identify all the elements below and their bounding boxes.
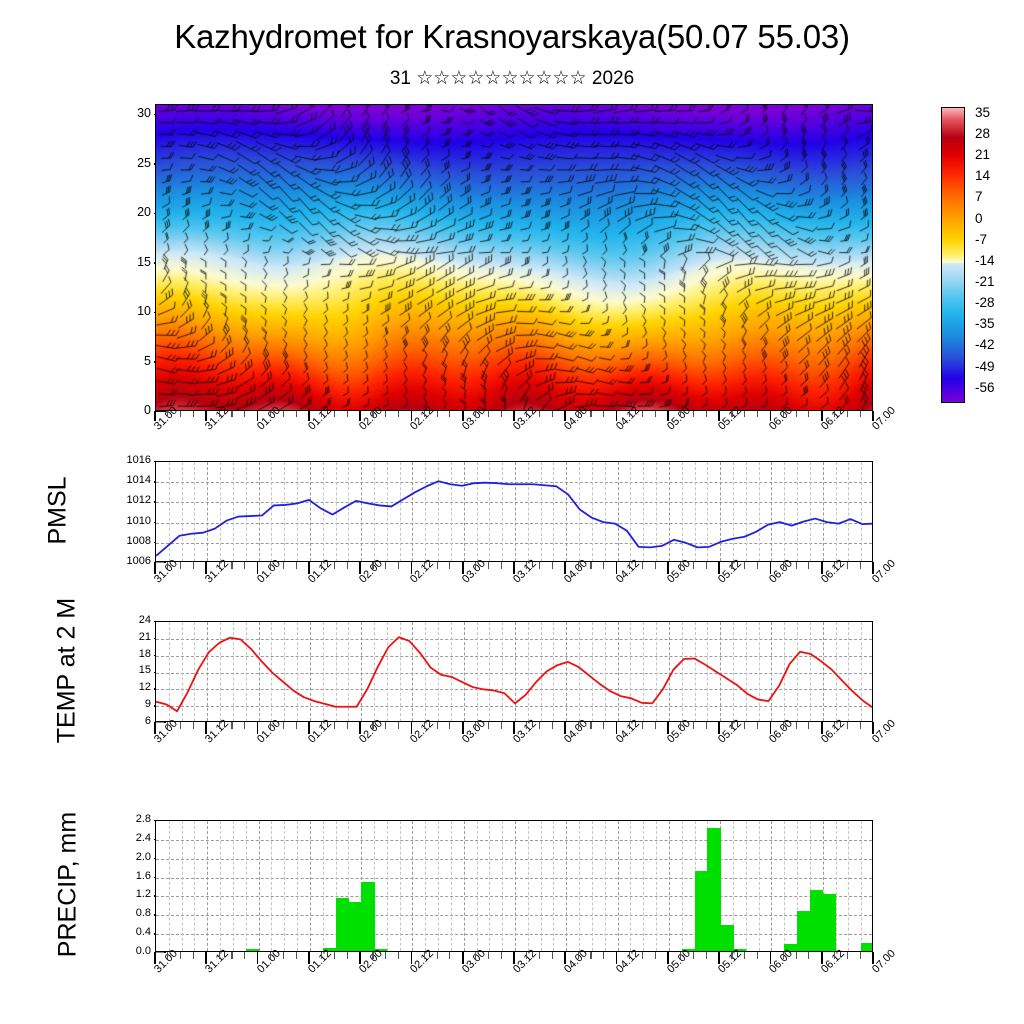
x-tick-minor xyxy=(706,722,707,729)
x-tick-minor xyxy=(680,952,681,959)
grid-line-vertical xyxy=(400,821,401,951)
grid-line-vertical xyxy=(182,821,183,951)
colorbar-tick-label: 35 xyxy=(975,106,990,120)
grid-line-vertical xyxy=(605,821,606,951)
x-tick-minor xyxy=(475,562,476,569)
x-tick-minor xyxy=(501,722,502,729)
x-tick-minor xyxy=(398,562,399,569)
x-tick-minor xyxy=(603,562,604,569)
colorbar-tick-label: -35 xyxy=(975,317,995,331)
x-tick-minor xyxy=(219,562,220,569)
x-tick-minor xyxy=(270,411,271,417)
x-tick-minor xyxy=(231,411,232,417)
grid-line-horizontal xyxy=(156,934,872,935)
x-tick-minor xyxy=(424,562,425,569)
x-tick-minor xyxy=(193,411,194,417)
x-tick-minor xyxy=(680,411,681,417)
x-tick-minor xyxy=(693,562,694,569)
x-tick-minor xyxy=(629,952,630,959)
y-tick-label: 2.4 xyxy=(107,833,151,844)
x-tick-minor xyxy=(334,722,335,729)
x-tick-label: 07.00 xyxy=(870,718,898,746)
x-tick-minor xyxy=(706,562,707,569)
grid-line-vertical xyxy=(412,821,413,951)
x-tick-minor xyxy=(578,411,579,417)
temp-series-line xyxy=(156,622,873,722)
y-tick-minor xyxy=(156,952,164,953)
x-tick-minor xyxy=(539,722,540,729)
y-tick-label: 15 xyxy=(107,256,151,269)
y-tick-label: 20 xyxy=(107,206,151,219)
x-tick-minor xyxy=(501,952,502,959)
grid-line-vertical xyxy=(259,821,260,951)
x-tick-minor xyxy=(372,952,373,959)
x-tick-minor xyxy=(244,722,245,729)
x-tick-minor xyxy=(437,562,438,569)
x-tick-minor xyxy=(283,722,284,729)
grid-line-vertical xyxy=(759,821,760,951)
subtitle-day: 31 xyxy=(390,68,411,89)
colorbar-tick-label: -49 xyxy=(975,360,995,374)
x-tick-minor xyxy=(180,722,181,729)
x-tick-minor xyxy=(744,952,745,959)
page-title: Kazhydromet for Krasnoyarskaya(50.07 55.… xyxy=(0,18,1024,56)
x-tick-minor xyxy=(437,722,438,729)
grid-line-vertical xyxy=(207,821,208,951)
grid-line-horizontal xyxy=(156,896,872,897)
x-tick-minor xyxy=(808,722,809,729)
x-tick-minor xyxy=(834,411,835,417)
x-tick-minor xyxy=(347,722,348,729)
subtitle-date: 31 ☆☆☆☆☆☆☆☆☆☆ 2026 xyxy=(0,67,1024,90)
grid-line-vertical xyxy=(656,821,657,951)
grid-line-vertical xyxy=(489,821,490,951)
y-tick-label: 0 xyxy=(107,404,151,417)
x-tick-minor xyxy=(590,562,591,569)
x-tick-minor xyxy=(501,562,502,569)
x-tick-minor xyxy=(860,562,861,569)
x-tick-minor xyxy=(488,562,489,569)
x-tick-minor xyxy=(526,722,527,729)
y-tick-minor xyxy=(156,562,164,563)
x-tick-minor xyxy=(231,952,232,959)
x-tick-minor xyxy=(321,722,322,729)
x-tick-minor xyxy=(847,562,848,569)
x-tick-label: 07.00 xyxy=(870,558,898,586)
x-tick-minor xyxy=(655,411,656,417)
y-tick-label: 0.0 xyxy=(107,946,151,957)
x-tick-minor xyxy=(552,411,553,417)
grid-line-vertical xyxy=(669,821,670,951)
x-tick-minor xyxy=(449,562,450,569)
grid-line-vertical xyxy=(682,821,683,951)
x-tick-minor xyxy=(372,722,373,729)
x-tick-minor xyxy=(424,952,425,959)
y-tick-label: 18 xyxy=(107,649,151,660)
x-tick-minor xyxy=(693,411,694,417)
x-tick-minor xyxy=(808,562,809,569)
grid-line-vertical xyxy=(771,821,772,951)
grid-line-horizontal xyxy=(156,859,872,860)
x-tick-minor xyxy=(398,952,399,959)
grid-line-vertical xyxy=(323,821,324,951)
grid-line-vertical xyxy=(310,821,311,951)
x-tick-minor xyxy=(693,952,694,959)
x-tick-minor xyxy=(744,722,745,729)
x-tick-minor xyxy=(347,952,348,959)
y-tick-label: 1.2 xyxy=(107,889,151,900)
x-tick-minor xyxy=(347,411,348,417)
pmsl-plot[interactable] xyxy=(155,461,873,562)
x-tick-minor xyxy=(385,722,386,729)
x-tick-minor xyxy=(655,562,656,569)
x-tick-minor xyxy=(757,562,758,569)
x-tick-minor xyxy=(526,411,527,417)
x-tick-minor xyxy=(385,411,386,417)
y-tick-label: 24 xyxy=(107,615,151,626)
x-tick-minor xyxy=(693,722,694,729)
x-tick-minor xyxy=(385,562,386,569)
x-tick-minor xyxy=(372,411,373,417)
x-tick-minor xyxy=(860,952,861,959)
x-tick-minor xyxy=(731,952,732,959)
x-tick-minor xyxy=(757,722,758,729)
x-tick-minor xyxy=(680,562,681,569)
precip-bar xyxy=(707,828,720,951)
pmsl-axis-title: PMSL xyxy=(44,450,73,570)
series-polyline xyxy=(156,481,873,556)
x-tick-minor xyxy=(796,722,797,729)
grid-line-vertical xyxy=(284,821,285,951)
precip-bar xyxy=(810,890,823,951)
x-tick-minor xyxy=(270,562,271,569)
colorbar-tick-label: -56 xyxy=(975,381,995,395)
x-tick-minor xyxy=(642,952,643,959)
x-tick-label: 07.00 xyxy=(870,405,898,433)
precip-axis-title: PRECIP, mm xyxy=(54,795,83,975)
y-tick-minor xyxy=(156,722,164,723)
x-tick-minor xyxy=(167,562,168,569)
grid-line-vertical xyxy=(271,821,272,951)
grid-line-vertical xyxy=(387,821,388,951)
x-tick-minor xyxy=(744,562,745,569)
x-tick-minor xyxy=(783,562,784,569)
colorbar-tick-label: 0 xyxy=(975,212,983,226)
x-tick-minor xyxy=(180,952,181,959)
grid-line-vertical xyxy=(451,821,452,951)
x-tick-minor xyxy=(167,722,168,729)
x-tick-minor xyxy=(488,952,489,959)
grid-line-vertical xyxy=(169,821,170,951)
x-tick-minor xyxy=(731,722,732,729)
subtitle-month-glyphs: ☆☆☆☆☆☆☆☆☆☆ xyxy=(416,68,586,89)
x-tick-minor xyxy=(834,562,835,569)
x-tick-minor xyxy=(424,722,425,729)
x-tick-minor xyxy=(296,562,297,569)
x-tick-minor xyxy=(706,952,707,959)
grid-line-vertical xyxy=(438,821,439,951)
x-tick-minor xyxy=(642,562,643,569)
grid-line-vertical xyxy=(528,821,529,951)
x-tick-minor xyxy=(731,411,732,417)
x-tick-minor xyxy=(488,411,489,417)
x-tick-minor xyxy=(296,722,297,729)
colorbar-tick-label: 28 xyxy=(975,127,990,141)
cross-section-plot[interactable] xyxy=(155,104,873,411)
x-tick-minor xyxy=(283,411,284,417)
y-tick-label: 9 xyxy=(107,699,151,710)
precip-bar xyxy=(861,943,873,951)
precip-bar xyxy=(823,894,836,951)
grid-line-vertical xyxy=(541,821,542,951)
x-tick-minor xyxy=(526,562,527,569)
x-tick-minor xyxy=(629,722,630,729)
x-tick-minor xyxy=(475,722,476,729)
precip-bar xyxy=(361,882,374,951)
x-tick-minor xyxy=(475,952,476,959)
y-tick-label: 2.8 xyxy=(107,814,151,825)
colorbar-tick-label: 7 xyxy=(975,190,983,204)
x-tick-minor xyxy=(219,722,220,729)
y-tick-label: 6 xyxy=(107,716,151,727)
x-tick-minor xyxy=(706,411,707,417)
x-tick-minor xyxy=(398,722,399,729)
grid-line-vertical xyxy=(566,821,567,951)
grid-line-vertical xyxy=(464,821,465,951)
series-polyline xyxy=(156,637,873,711)
x-tick-minor xyxy=(629,411,630,417)
y-tick-label: 1008 xyxy=(107,536,151,547)
y-tick-label: 12 xyxy=(107,682,151,693)
colorbar-tick-label: -7 xyxy=(975,233,987,247)
x-tick-minor xyxy=(539,952,540,959)
x-tick-minor xyxy=(629,562,630,569)
grid-line-vertical xyxy=(848,821,849,951)
x-tick-minor xyxy=(757,952,758,959)
precip-bar xyxy=(348,902,361,952)
x-tick-minor xyxy=(578,562,579,569)
x-tick-minor xyxy=(526,952,527,959)
y-tick-label: 0.4 xyxy=(107,927,151,938)
grid-line-horizontal xyxy=(156,840,872,841)
x-tick-minor xyxy=(603,952,604,959)
x-tick-minor xyxy=(783,952,784,959)
x-tick-minor xyxy=(449,411,450,417)
x-tick-minor xyxy=(847,952,848,959)
x-tick-minor xyxy=(167,952,168,959)
x-tick-minor xyxy=(642,411,643,417)
precip-bar xyxy=(336,898,349,951)
x-tick-minor xyxy=(231,722,232,729)
x-tick-minor xyxy=(270,722,271,729)
grid-line-vertical xyxy=(784,821,785,951)
x-tick-minor xyxy=(321,952,322,959)
x-tick-minor xyxy=(501,411,502,417)
grid-line-vertical xyxy=(194,821,195,951)
x-tick-minor xyxy=(655,722,656,729)
x-tick-minor xyxy=(808,952,809,959)
grid-line-vertical xyxy=(477,821,478,951)
precip-plot[interactable] xyxy=(155,820,873,952)
temp-axis-title: TEMP at 2 M xyxy=(53,585,82,755)
temperature-colorbar: 3528211470-7-14-21-28-35-42-49-56 xyxy=(941,107,965,403)
x-tick-minor xyxy=(334,952,335,959)
grid-line-vertical xyxy=(746,821,747,951)
x-tick-minor xyxy=(847,722,848,729)
x-tick-minor xyxy=(731,562,732,569)
x-tick-minor xyxy=(860,411,861,417)
x-tick-minor xyxy=(180,411,181,417)
x-tick-minor xyxy=(385,952,386,959)
x-tick-minor xyxy=(552,722,553,729)
grid-line-vertical xyxy=(630,821,631,951)
x-tick-minor xyxy=(603,411,604,417)
x-tick-minor xyxy=(796,952,797,959)
x-tick-minor xyxy=(475,411,476,417)
x-tick-minor xyxy=(296,952,297,959)
x-tick-minor xyxy=(244,562,245,569)
x-tick-minor xyxy=(437,411,438,417)
x-tick-minor xyxy=(321,562,322,569)
precip-bar xyxy=(695,871,708,951)
x-tick-minor xyxy=(270,952,271,959)
x-tick-minor xyxy=(744,411,745,417)
x-tick-minor xyxy=(578,722,579,729)
grid-line-vertical xyxy=(643,821,644,951)
x-tick-minor xyxy=(847,411,848,417)
grid-line-vertical xyxy=(425,821,426,951)
x-tick-minor xyxy=(860,722,861,729)
grid-line-vertical xyxy=(592,821,593,951)
colorbar-tick-label: 21 xyxy=(975,148,990,162)
grid-line-horizontal xyxy=(156,915,872,916)
precip-bar xyxy=(720,925,733,951)
x-tick-minor xyxy=(244,952,245,959)
precip-bar xyxy=(246,949,259,951)
y-tick-label: 15 xyxy=(107,665,151,676)
x-tick-minor xyxy=(449,722,450,729)
x-tick-minor xyxy=(437,952,438,959)
y-tick-label: 30 xyxy=(107,107,151,120)
x-tick-minor xyxy=(590,411,591,417)
x-tick-minor xyxy=(167,411,168,417)
grid-line-vertical xyxy=(220,821,221,951)
x-tick-minor xyxy=(347,562,348,569)
grid-line-vertical xyxy=(515,821,516,951)
x-tick-minor xyxy=(219,952,220,959)
grid-line-vertical xyxy=(297,821,298,951)
grid-line-vertical xyxy=(553,821,554,951)
forecast-meteogram-page: Kazhydromet for Krasnoyarskaya(50.07 55.… xyxy=(0,0,1024,1024)
colorbar-tick-label: -28 xyxy=(975,296,995,310)
x-tick-minor xyxy=(783,411,784,417)
y-tick-label: 10 xyxy=(107,305,151,318)
x-tick-minor xyxy=(424,411,425,417)
grid-line-vertical xyxy=(861,821,862,951)
x-tick-minor xyxy=(193,722,194,729)
x-tick-minor xyxy=(539,562,540,569)
x-tick-minor xyxy=(283,562,284,569)
y-tick-label: 25 xyxy=(107,157,151,170)
x-tick-minor xyxy=(834,952,835,959)
grid-line-vertical xyxy=(502,821,503,951)
precip-bar xyxy=(797,911,810,951)
x-tick-minor xyxy=(552,562,553,569)
grid-line-vertical xyxy=(579,821,580,951)
x-tick-minor xyxy=(655,952,656,959)
x-tick-minor xyxy=(398,411,399,417)
y-tick-label: 5 xyxy=(107,355,151,368)
x-tick-minor xyxy=(283,952,284,959)
colorbar-gradient xyxy=(941,107,965,403)
colorbar-tick-label: -21 xyxy=(975,275,995,289)
y-tick-label: 1012 xyxy=(107,495,151,506)
colorbar-tick-label: 14 xyxy=(975,169,990,183)
cross-section-canvas xyxy=(156,105,873,411)
subtitle-year: 2026 xyxy=(592,68,634,89)
y-tick-label: 21 xyxy=(107,632,151,643)
x-tick-minor xyxy=(231,562,232,569)
x-tick-minor xyxy=(552,952,553,959)
x-tick-minor xyxy=(808,411,809,417)
colorbar-tick-labels: 3528211470-7-14-21-28-35-42-49-56 xyxy=(975,107,1024,403)
x-tick-minor xyxy=(372,562,373,569)
x-tick-minor xyxy=(488,722,489,729)
x-tick-minor xyxy=(321,411,322,417)
y-tick-label: 1016 xyxy=(107,455,151,466)
x-tick-minor xyxy=(193,562,194,569)
y-tick-label: 1006 xyxy=(107,556,151,567)
y-tick-label: 1.6 xyxy=(107,871,151,882)
x-tick-minor xyxy=(590,722,591,729)
x-tick-minor xyxy=(680,722,681,729)
x-tick-minor xyxy=(783,722,784,729)
grid-line-vertical xyxy=(618,821,619,951)
x-tick-minor xyxy=(796,562,797,569)
pmsl-series-line xyxy=(156,462,873,562)
x-tick-minor xyxy=(244,411,245,417)
x-tick-minor xyxy=(449,952,450,959)
y-tick-label: 2.0 xyxy=(107,852,151,863)
y-tick-label: 1010 xyxy=(107,516,151,527)
x-tick-minor xyxy=(334,411,335,417)
x-tick-minor xyxy=(539,411,540,417)
x-tick-minor xyxy=(219,411,220,417)
x-tick-minor xyxy=(603,722,604,729)
x-tick-minor xyxy=(296,411,297,417)
x-tick-label: 07.00 xyxy=(870,948,898,976)
grid-line-vertical xyxy=(246,821,247,951)
x-tick-minor xyxy=(757,411,758,417)
grid-line-vertical xyxy=(233,821,234,951)
x-tick-minor xyxy=(180,562,181,569)
grid-line-horizontal xyxy=(156,878,872,879)
x-tick-minor xyxy=(834,722,835,729)
x-tick-minor xyxy=(642,722,643,729)
x-tick-minor xyxy=(578,952,579,959)
y-tick-label: 0.8 xyxy=(107,908,151,919)
colorbar-tick-label: -14 xyxy=(975,254,995,268)
temp-plot[interactable] xyxy=(155,621,873,722)
x-tick-minor xyxy=(193,952,194,959)
x-tick-minor xyxy=(796,411,797,417)
colorbar-tick-label: -42 xyxy=(975,338,995,352)
x-tick-minor xyxy=(334,562,335,569)
y-tick-label: 1014 xyxy=(107,475,151,486)
x-tick-minor xyxy=(590,952,591,959)
